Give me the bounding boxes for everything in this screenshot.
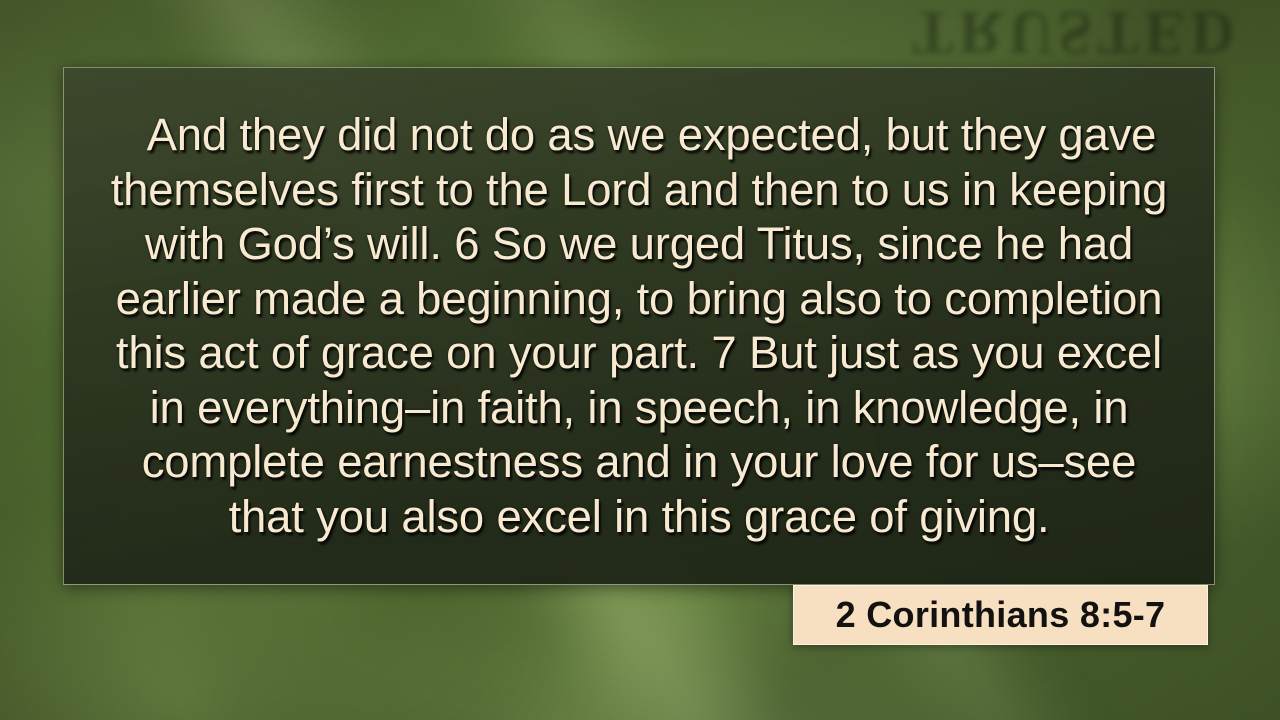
scripture-reference-label: 2 Corinthians 8:5-7	[836, 594, 1166, 636]
verse-text: And they did not do as we expected, but …	[99, 108, 1179, 544]
verse-slide: TRUSTED And they did not do as we expect…	[0, 0, 1280, 720]
scripture-reference-badge: 2 Corinthians 8:5-7	[793, 585, 1208, 645]
verse-panel: And they did not do as we expected, but …	[63, 67, 1215, 585]
